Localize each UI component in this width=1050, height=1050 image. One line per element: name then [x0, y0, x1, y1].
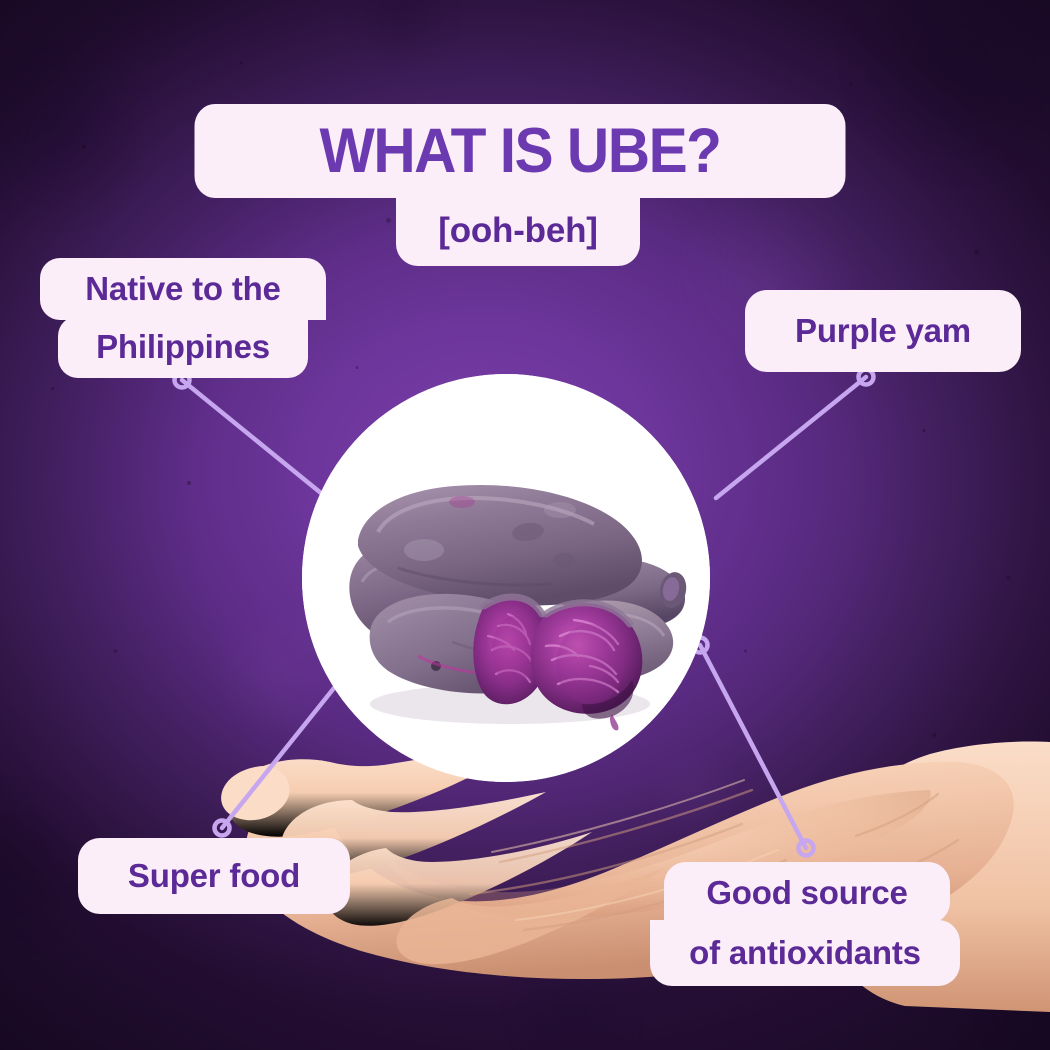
label-antioxidants-line2: of antioxidants: [650, 920, 960, 986]
infographic-poster: WHAT IS UBE? [ooh-beh] Native to the Phi…: [0, 0, 1050, 1050]
page-title: WHAT IS UBE?: [195, 104, 846, 198]
label-antioxidants-line1: Good source: [664, 862, 950, 924]
ube-tubers-illustration: [302, 374, 710, 782]
label-purple-yam: Purple yam: [745, 290, 1021, 372]
label-native-line2: Philippines: [58, 316, 308, 378]
pronunciation-label: [ooh-beh]: [396, 196, 640, 266]
label-super-food: Super food: [78, 838, 350, 914]
ube-photo-circle: [302, 374, 710, 782]
connector-line-purpleyam: [716, 377, 866, 498]
connector-line-superfood: [222, 688, 334, 828]
connector-line-antioxidants: [700, 645, 806, 848]
label-native-line1: Native to the: [40, 258, 326, 320]
connector-line-native: [182, 380, 332, 502]
